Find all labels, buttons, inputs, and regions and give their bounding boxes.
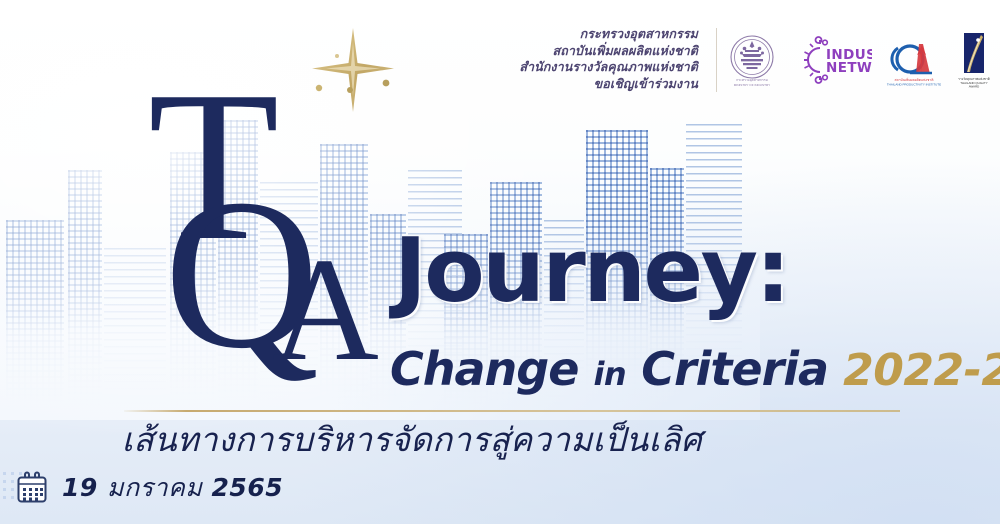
title-subline: Change in Criteria 2022-2023 bbox=[390, 346, 1000, 393]
event-subtitle: เส้นทางการบริหารจัดการสู่ความเป็นเลิศ bbox=[0, 419, 1000, 460]
svg-text:MINISTRY OF INDUSTRY: MINISTRY OF INDUSTRY bbox=[734, 83, 770, 87]
event-date-day: 19 bbox=[62, 473, 98, 502]
title-journey: Journey: bbox=[394, 229, 788, 313]
organizer-line-1: กระทรวงอุตสาหกรรม bbox=[448, 26, 698, 43]
ministry-of-industry-seal: กระทรวงอุตสาหกรรม MINISTRY OF INDUSTRY bbox=[724, 31, 780, 89]
logo-strip: กระทรวงอุตสาหกรรม MINISTRY OF INDUSTRY I… bbox=[724, 26, 990, 94]
event-date-year: 2565 bbox=[212, 473, 284, 502]
header-divider bbox=[716, 28, 717, 92]
organizer-line-2: สถาบันเพิ่มผลผลิตแห่งชาติ bbox=[448, 43, 698, 60]
svg-text:THAILAND PRODUCTIVITY INSTITUT: THAILAND PRODUCTIVITY INSTITUTE bbox=[887, 82, 941, 86]
industry-network-logo: INDUSTRY NETWORK bbox=[794, 35, 872, 85]
calendar-icon bbox=[14, 470, 50, 506]
organizer-line-4: ขอเชิญเข้าร่วมงาน bbox=[448, 76, 698, 93]
svg-text:NETWORK: NETWORK bbox=[826, 60, 872, 76]
title-in: in bbox=[593, 355, 626, 393]
event-date-text: 19 มกราคม 2565 bbox=[62, 468, 283, 508]
gold-divider-rule bbox=[124, 410, 900, 412]
organizer-line-3: สำนักงานรางวัลคุณภาพแห่งชาติ bbox=[448, 59, 698, 76]
title-change: Change bbox=[390, 342, 578, 396]
four-point-star-icon bbox=[310, 26, 396, 112]
title-criteria: Criteria bbox=[641, 342, 828, 396]
svg-text:สถาบันเพิ่มผลผลิตแห่งชาติ: สถาบันเพิ่มผลผลิตแห่งชาติ bbox=[895, 77, 934, 82]
ftpi-logo: สถาบันเพิ่มผลผลิตแห่งชาติ THAILAND PRODU… bbox=[886, 32, 942, 88]
tqa-logo: รางวัลคุณภาพแห่งชาติ THAILAND QUALITY AW… bbox=[956, 31, 992, 89]
organizer-text-block: กระทรวงอุตสาหกรรม สถาบันเพิ่มผลผลิตแห่งช… bbox=[448, 26, 698, 92]
title-years: 2022-2023 bbox=[843, 345, 1000, 396]
svg-text:AWARD: AWARD bbox=[969, 85, 980, 89]
event-date-month: มกราคม bbox=[107, 473, 202, 502]
event-date-row: 19 มกราคม 2565 bbox=[14, 468, 283, 508]
event-banner: กระทรวงอุตสาหกรรม สถาบันเพิ่มผลผลิตแห่งช… bbox=[0, 0, 1000, 524]
